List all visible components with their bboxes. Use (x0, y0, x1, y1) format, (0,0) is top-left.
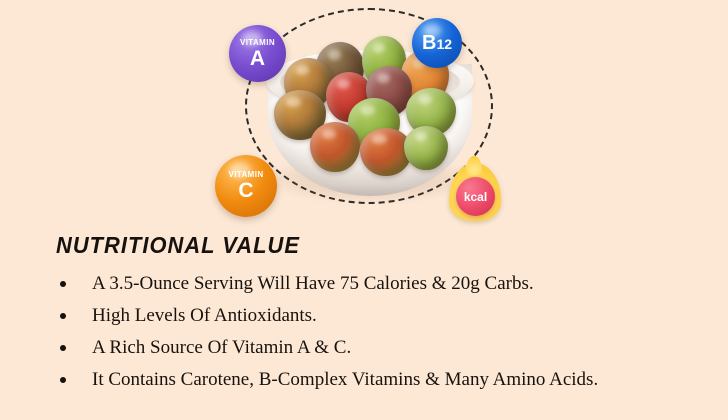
badge-b12-letter: B (422, 32, 436, 54)
badge-vitamin-a: VITAMIN A (229, 25, 286, 82)
badge-kcal-label: kcal (456, 177, 495, 216)
nutrition-infographic: VITAMIN A B12 VITAMIN C kcal NUTRITIONAL… (0, 0, 728, 420)
badge-vitamin-a-value: A (250, 48, 265, 69)
bullet-icon (60, 313, 66, 319)
hero-image-area: VITAMIN A B12 VITAMIN C kcal (0, 0, 728, 228)
bullet-icon (60, 345, 66, 351)
list-item-label: A 3.5-Ounce Serving Will Have 75 Calorie… (92, 273, 534, 294)
fruit (404, 126, 448, 170)
badge-vitamin-c-label: VITAMIN (228, 171, 263, 179)
bullet-icon (60, 281, 66, 287)
list-item: A Rich Source Of Vitamin A & C. (56, 332, 716, 364)
nutrition-text-block: NUTRITIONAL VALUE A 3.5-Ounce Serving Wi… (0, 228, 728, 420)
fruit (310, 122, 360, 172)
badge-b12-value: B12 (422, 33, 452, 53)
badge-b12-subscript: 12 (436, 36, 452, 52)
bullet-icon (60, 377, 66, 383)
badge-kcal: kcal (447, 163, 503, 221)
list-item: A 3.5-Ounce Serving Will Have 75 Calorie… (56, 268, 716, 300)
badge-vitamin-c-value: C (238, 180, 253, 201)
list-item-label: High Levels Of Antioxidants. (92, 305, 317, 326)
badge-vitamin-a-label: VITAMIN (240, 39, 275, 47)
nutrition-bullet-list: A 3.5-Ounce Serving Will Have 75 Calorie… (56, 268, 716, 396)
list-item: High Levels Of Antioxidants. (56, 300, 716, 332)
list-item: It Contains Carotene, B-Complex Vitamins… (56, 364, 716, 396)
badge-vitamin-c: VITAMIN C (215, 155, 277, 217)
list-item-label: It Contains Carotene, B-Complex Vitamins… (92, 369, 598, 390)
page-title: NUTRITIONAL VALUE (56, 232, 300, 259)
list-item-label: A Rich Source Of Vitamin A & C. (92, 337, 351, 358)
badge-b12: B12 (412, 18, 462, 68)
